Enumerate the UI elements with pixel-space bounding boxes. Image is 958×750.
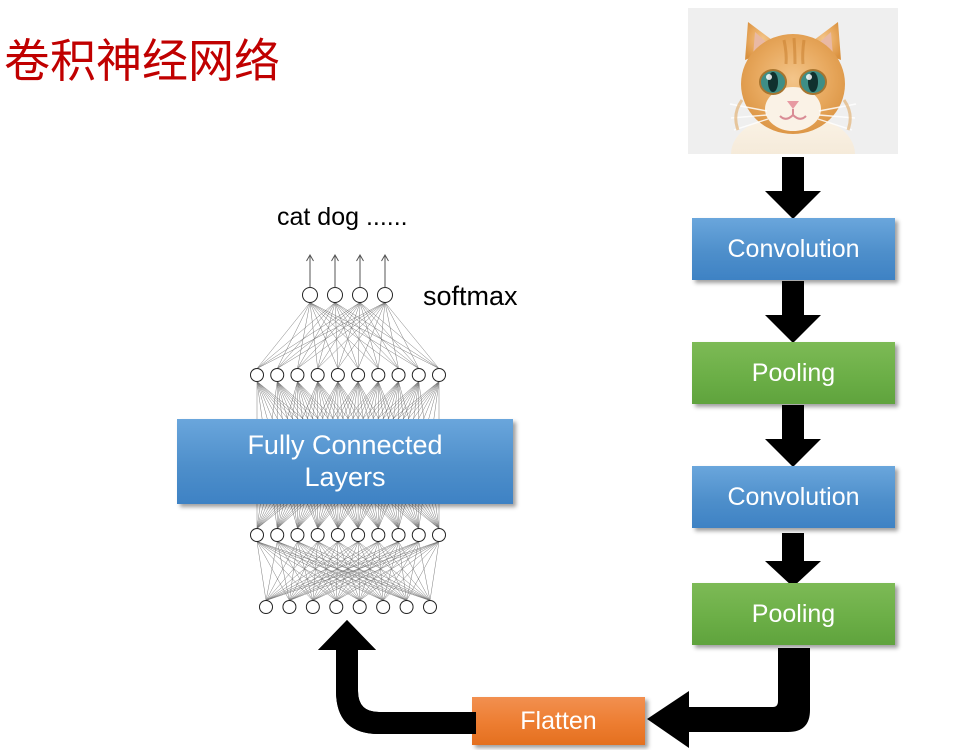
pooling-block-2-label: Pooling xyxy=(752,600,835,629)
pooling-block-2[interactable]: Pooling xyxy=(692,583,895,645)
kitten-photo xyxy=(688,8,898,154)
fully-connected-block[interactable]: Fully Connected Layers xyxy=(177,419,513,504)
flatten-block-label: Flatten xyxy=(520,707,596,736)
convolution-block-1-label: Convolution xyxy=(727,235,859,264)
pooling-block-1-label: Pooling xyxy=(752,359,835,388)
arrow-flatten-to-fully-connected-icon xyxy=(304,620,476,746)
convolution-block-1[interactable]: Convolution xyxy=(692,218,895,280)
convolution-block-2[interactable]: Convolution xyxy=(692,466,895,528)
arrow-convolution2-to-pooling2-icon xyxy=(765,529,821,591)
pooling-block-1[interactable]: Pooling xyxy=(692,342,895,404)
arrow-convolution1-to-pooling1-icon xyxy=(765,281,821,343)
convolution-block-2-label: Convolution xyxy=(727,483,859,512)
slide-canvas: 卷积神经网络 xyxy=(0,0,958,750)
fully-connected-line2: Layers xyxy=(304,462,385,493)
arrow-image-to-convolution1-icon xyxy=(765,157,821,219)
arrow-pooling1-to-convolution2-icon xyxy=(765,405,821,467)
outputs-label: cat dog ...... xyxy=(277,203,408,232)
flatten-block[interactable]: Flatten xyxy=(472,697,645,745)
page-title: 卷积神经网络 xyxy=(4,38,280,84)
fully-connected-line1: Fully Connected xyxy=(247,430,442,461)
arrow-pooling2-to-flatten-icon xyxy=(645,648,810,748)
